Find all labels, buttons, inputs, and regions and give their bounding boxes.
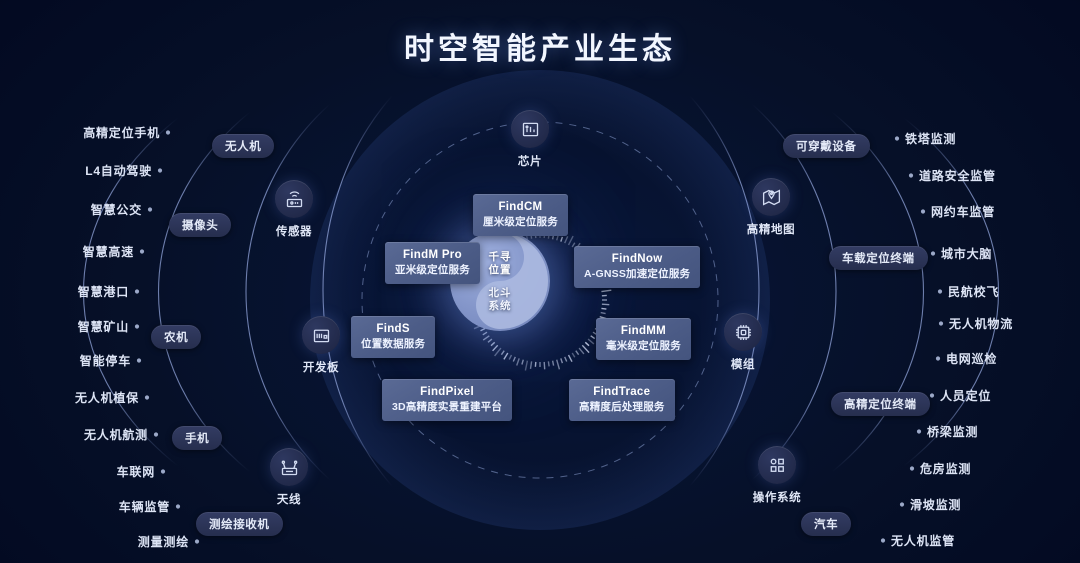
ecosystem-diagram: 时空智能产业生态 — [0, 0, 1080, 563]
leaf-connector-dots — [0, 0, 1080, 563]
